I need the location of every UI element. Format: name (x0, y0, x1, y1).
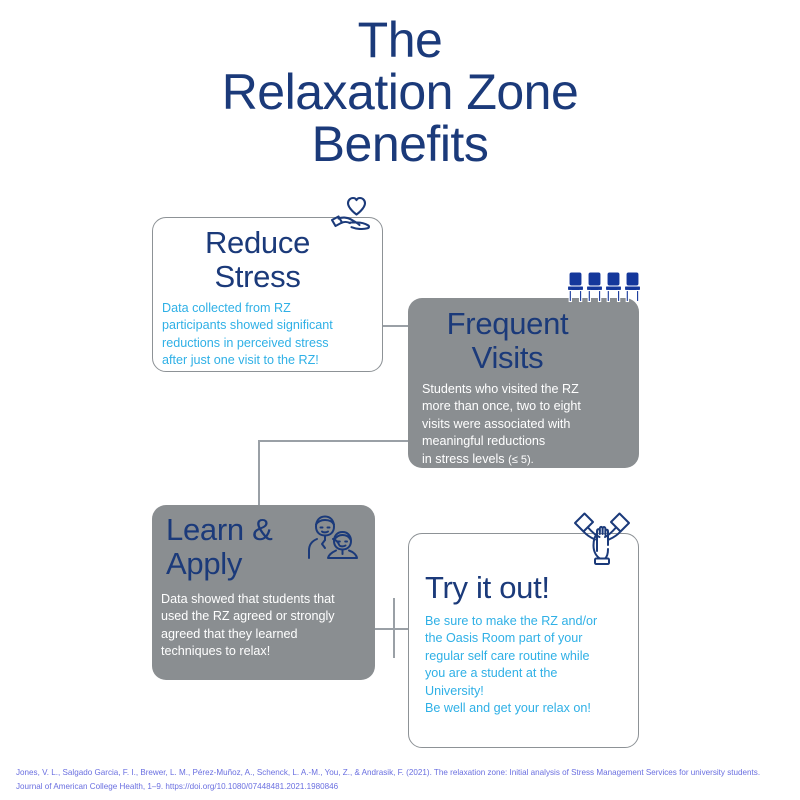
card-try-it-out-body-line: Be sure to make the RZ and/or (425, 613, 628, 630)
citation-line-1: Jones, V. L., Salgado Garcia, F. I., Bre… (16, 766, 786, 780)
citation: Jones, V. L., Salgado Garcia, F. I., Bre… (16, 766, 786, 793)
card-learn-apply-title-line-2: Apply (166, 546, 242, 581)
card-reduce-stress-body-line: Data collected from RZ (162, 300, 370, 317)
card-reduce-stress-title-line-2: Stress (214, 259, 300, 294)
card-learn-apply-body-line: agreed that they learned (161, 626, 363, 643)
card-try-it-out-body-line: you are a student at the (425, 665, 628, 682)
connector-vertical-card3-to-card4 (393, 598, 395, 658)
card-try-it-out-body-line: regular self care routine while (425, 648, 628, 665)
card-frequent-visits-body-line: more than once, two to eight (422, 398, 627, 415)
card-reduce-stress-body: Data collected from RZ participants show… (153, 294, 382, 370)
connector-vertical-card2-to-card3 (258, 440, 260, 510)
card-try-it-out-body-line: the Oasis Room part of your (425, 630, 628, 647)
card-try-it-out-body-line: University! (425, 683, 628, 700)
card-learn-apply-title-line-1: Learn & (166, 512, 272, 547)
card-frequent-visits[interactable]: Frequent Visits Students who visited the… (408, 298, 639, 468)
card-reduce-stress-body-line: participants showed significant (162, 317, 370, 334)
card-reduce-stress-title-line-1: Reduce (205, 225, 310, 260)
card-frequent-visits-body-line: visits were associated with (422, 416, 627, 433)
card-reduce-stress-body-line: reductions in perceived stress (162, 335, 370, 352)
page-title-line-1: The (0, 14, 800, 66)
card-learn-apply-body-line: techniques to relax! (161, 643, 363, 660)
page-title-line-3: Benefits (0, 118, 800, 170)
four-chairs-icon (567, 271, 643, 310)
card-try-it-out-body-line: Be well and get your relax on! (425, 700, 628, 717)
hand-holding-heart-icon (325, 194, 377, 249)
page-title: The Relaxation Zone Benefits (0, 14, 800, 170)
card-frequent-visits-body-line: Students who visited the RZ (422, 381, 627, 398)
card-frequent-visits-title-line-2: Visits (472, 340, 544, 375)
card-learn-apply-body: Data showed that students that used the … (152, 581, 375, 661)
card-frequent-visits-title-line-1: Frequent (447, 306, 569, 341)
stress-level-note: (≤ 5). (508, 454, 534, 466)
card-frequent-visits-body-line: meaningful reductions (422, 433, 627, 450)
card-frequent-visits-body-last-line: in stress levels (≤ 5). (422, 451, 627, 469)
connector-horizontal-card2-to-card3 (258, 440, 418, 442)
page-title-line-2: Relaxation Zone (0, 66, 800, 118)
card-reduce-stress-body-line: after just one visit to the RZ! (162, 352, 370, 369)
card-try-it-out-body: Be sure to make the RZ and/or the Oasis … (409, 605, 638, 717)
stress-level-text: in stress levels (422, 452, 508, 466)
citation-line-2: Journal of American College Health, 1–9.… (16, 780, 786, 794)
card-learn-apply-body-line: used the RZ agreed or strongly (161, 608, 363, 625)
card-learn-apply-body-line: Data showed that students that (161, 591, 363, 608)
two-people-icon (303, 512, 365, 567)
hands-releasing-butterfly-icon (571, 509, 633, 576)
card-frequent-visits-body: Students who visited the RZ more than on… (408, 375, 639, 469)
